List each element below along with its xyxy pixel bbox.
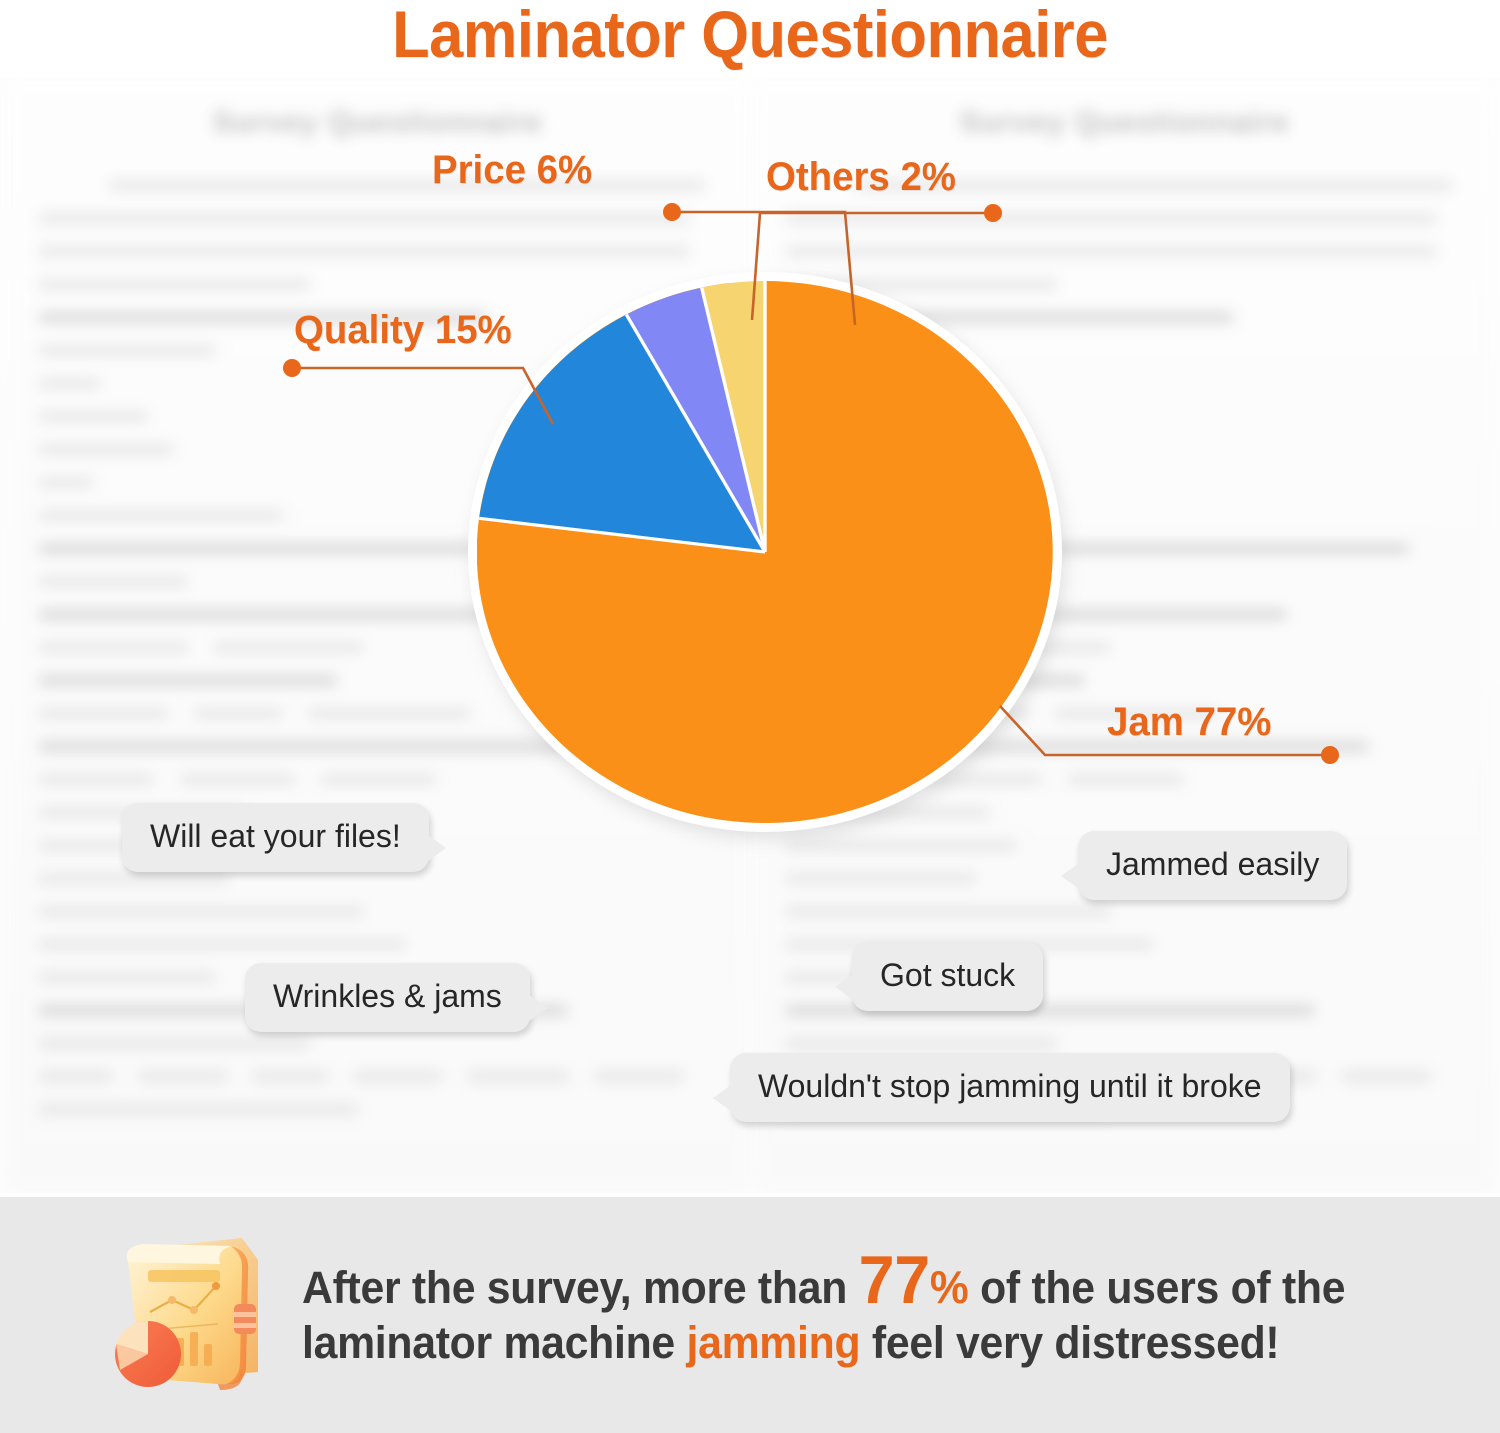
infographic-page: Survey Questionnaire xyxy=(0,0,1500,1433)
pie-chart-svg xyxy=(477,281,1053,823)
background-document-heading-2: Survey Questionnaire xyxy=(786,106,1463,140)
page-title: Laminator Questionnaire xyxy=(53,0,1448,72)
speech-bubble-got-stuck: Got stuck xyxy=(852,942,1043,1011)
banner-highlight-percent: % xyxy=(930,1261,969,1313)
speech-bubble-wouldnt-stop-jamming: Wouldn't stop jamming until it broke xyxy=(730,1053,1290,1122)
summary-banner-text: After the survey, more than 77% of the u… xyxy=(302,1259,1345,1371)
speech-bubble-will-eat-your-files: Will eat your files! xyxy=(122,803,429,872)
callout-label-price: Price 6% xyxy=(432,148,592,193)
survey-report-chart-icon xyxy=(90,1220,290,1410)
banner-line1-part1: After the survey, more than xyxy=(302,1262,859,1313)
callout-label-quality: Quality 15% xyxy=(294,308,512,353)
banner-highlight-jamming: jamming xyxy=(686,1317,860,1368)
banner-line2-part1: laminator machine xyxy=(302,1317,686,1368)
callout-label-others: Others 2% xyxy=(766,155,956,200)
banner-line1-part2: of the users of the xyxy=(968,1262,1345,1313)
speech-bubble-jammed-easily: Jammed easily xyxy=(1078,831,1347,900)
background-document-heading: Survey Questionnaire xyxy=(39,106,716,140)
summary-banner: After the survey, more than 77% of the u… xyxy=(0,1197,1500,1433)
callout-label-jam: Jam 77% xyxy=(1107,700,1271,745)
banner-line2-part2: feel very distressed! xyxy=(860,1317,1279,1368)
pie-chart xyxy=(468,272,1072,842)
banner-highlight-number: 77 xyxy=(859,1242,930,1318)
speech-bubble-wrinkles-and-jams: Wrinkles & jams xyxy=(245,963,530,1032)
